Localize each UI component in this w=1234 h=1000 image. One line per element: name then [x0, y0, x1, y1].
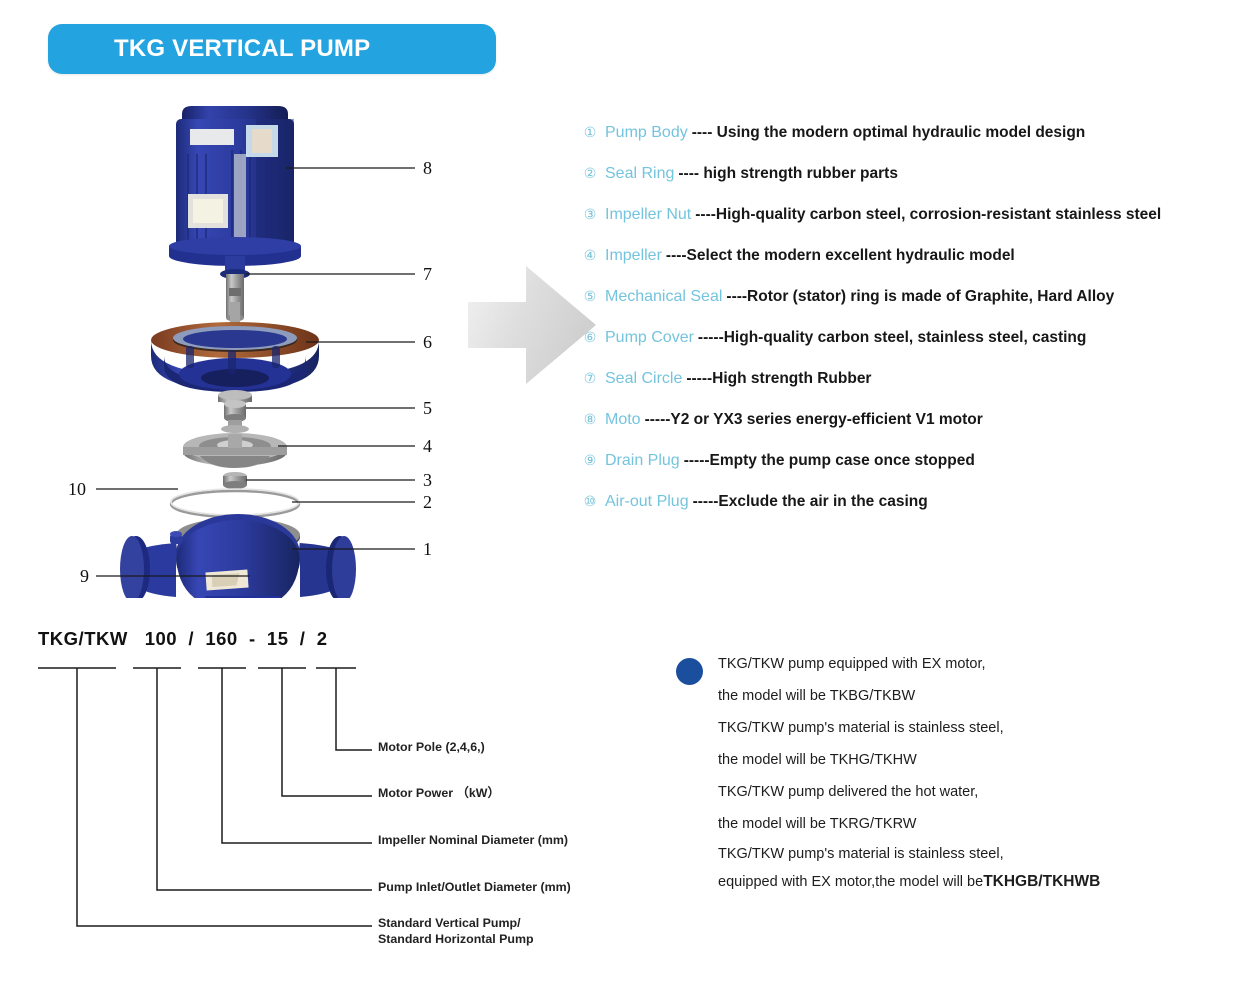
legend-part-name: Impeller Nut — [605, 206, 691, 224]
legend-item-8: ⑧ Moto -----Y2 or YX3 series energy-effi… — [580, 411, 1228, 452]
legend-part-desc: ----High-quality carbon steel, corrosion… — [695, 206, 1161, 224]
legend-part-desc: ---- high strength rubber parts — [678, 165, 898, 183]
legend-item-2: ② Seal Ring ---- high strength rubber pa… — [580, 165, 1228, 206]
part-mechanical-seal — [218, 390, 252, 433]
legend-item-3: ③ Impeller Nut ----High-quality carbon s… — [580, 206, 1228, 247]
part-pump-body — [120, 514, 356, 598]
callout-9: 9 — [80, 566, 89, 586]
legend-number-icon: ⑦ — [580, 370, 600, 387]
legend-part-desc: -----High-quality carbon steel, stainles… — [698, 329, 1086, 347]
callout-1: 1 — [423, 539, 432, 559]
variants-line-8-models: TKHGB/TKHWB — [983, 873, 1100, 891]
legend-part-name: Drain Plug — [605, 452, 680, 470]
legend-part-name: Mechanical Seal — [605, 288, 722, 306]
variants-line-3: TKG/TKW pump's material is stainless ste… — [718, 712, 1216, 744]
legend-item-4: ④ Impeller ----Select the modern excelle… — [580, 247, 1228, 288]
legend-number-icon: ⑨ — [580, 452, 600, 469]
legend-number-icon: ① — [580, 124, 600, 141]
page-title-banner: TKG VERTICAL PUMP — [48, 24, 496, 74]
legend-part-desc: -----High strength Rubber — [686, 370, 871, 388]
legend-number-icon: ③ — [580, 206, 600, 223]
part-seal-ring — [171, 489, 299, 517]
label-motor-pole: Motor Pole (2,4,6,) — [378, 740, 485, 756]
callout-3: 3 — [423, 470, 432, 490]
variants-line-7: TKG/TKW pump's material is stainless ste… — [718, 840, 1216, 868]
legend-item-7: ⑦ Seal Circle -----High strength Rubber — [580, 370, 1228, 411]
callout-4: 4 — [423, 436, 432, 456]
legend-number-icon: ⑤ — [580, 288, 600, 305]
callout-7: 7 — [423, 264, 432, 284]
part-impeller-nut — [223, 472, 247, 489]
variants-line-2: the model will be TKBG/TKBW — [718, 680, 1216, 712]
variants-line-8-text: equipped with EX motor,the model will be — [718, 874, 983, 890]
callout-8: 8 — [423, 158, 432, 178]
legend-part-desc: -----Exclude the air in the casing — [693, 493, 928, 511]
label-impeller-diameter: Impeller Nominal Diameter (mm) — [378, 833, 568, 849]
variants-line-4: the model will be TKHG/TKHW — [718, 744, 1216, 776]
legend-item-10: ⑩ Air-out Plug -----Exclude the air in t… — [580, 493, 1228, 534]
legend-item-9: ⑨ Drain Plug -----Empty the pump case on… — [580, 452, 1228, 493]
part-impeller — [183, 433, 287, 468]
callout-10: 10 — [68, 479, 86, 499]
variants-line-8: equipped with EX motor,the model will be… — [718, 868, 1216, 896]
legend-number-icon: ⑧ — [580, 411, 600, 428]
callout-5: 5 — [423, 398, 432, 418]
legend-item-1: ① Pump Body ---- Using the modern optima… — [580, 124, 1228, 165]
legend-part-name: Seal Ring — [605, 165, 674, 183]
part-motor — [169, 106, 301, 266]
page-title: TKG VERTICAL PUMP — [114, 35, 370, 63]
legend-item-5: ⑤ Mechanical Seal ----Rotor (stator) rin… — [580, 288, 1228, 329]
legend-part-desc: ----Rotor (stator) ring is made of Graph… — [726, 288, 1114, 306]
legend-item-6: ⑥ Pump Cover -----High-quality carbon st… — [580, 329, 1228, 370]
label-motor-power: Motor Power （kW） — [378, 786, 500, 802]
variants-note: TKG/TKW pump equipped with EX motor, the… — [676, 648, 1216, 896]
callout-2: 2 — [423, 492, 432, 512]
legend-part-name: Air-out Plug — [605, 493, 689, 511]
variants-line-1: TKG/TKW pump equipped with EX motor, — [718, 648, 1216, 680]
legend-number-icon: ④ — [580, 247, 600, 264]
callout-6: 6 — [423, 332, 432, 352]
legend-part-name: Impeller — [605, 247, 662, 265]
variants-note-lines: TKG/TKW pump equipped with EX motor, the… — [718, 648, 1216, 896]
variants-line-5: TKG/TKW pump delivered the hot water, — [718, 776, 1216, 808]
part-shaft-coupling — [220, 256, 250, 328]
legend-part-desc: ----Select the modern excellent hydrauli… — [666, 247, 1015, 265]
legend-part-name: Seal Circle — [605, 370, 682, 388]
legend-number-icon: ⑩ — [580, 493, 600, 510]
legend-part-desc: -----Empty the pump case once stopped — [684, 452, 975, 470]
label-inlet-outlet-diameter: Pump Inlet/Outlet Diameter (mm) — [378, 880, 571, 896]
label-standard-pump-line1: Standard Vertical Pump/ — [378, 916, 521, 932]
pump-spec-sheet: TKG VERTICAL PUMP — [0, 0, 1234, 1000]
model-code-breakdown: TKG/TKW 100 / 160 - 15 / 2 — [20, 628, 620, 958]
model-code-leader-lines — [20, 628, 620, 958]
legend-number-icon: ② — [580, 165, 600, 182]
flow-arrow — [468, 262, 598, 388]
label-standard-pump-line2: Standard Horizontal Pump — [378, 932, 534, 948]
legend-part-name: Moto — [605, 411, 641, 429]
parts-legend: ① Pump Body ---- Using the modern optima… — [580, 124, 1228, 534]
part-pump-cover — [151, 322, 319, 392]
legend-part-name: Pump Cover — [605, 329, 694, 347]
exploded-pump-figure: 8 7 6 5 4 3 2 1 10 9 — [60, 88, 480, 598]
legend-part-name: Pump Body — [605, 124, 688, 142]
bullet-dot-icon — [676, 658, 703, 685]
legend-number-icon: ⑥ — [580, 329, 600, 346]
legend-part-desc: ---- Using the modern optimal hydraulic … — [692, 124, 1086, 142]
legend-part-desc: -----Y2 or YX3 series energy-efficient V… — [645, 411, 983, 429]
variants-line-6: the model will be TKRG/TKRW — [718, 808, 1216, 840]
